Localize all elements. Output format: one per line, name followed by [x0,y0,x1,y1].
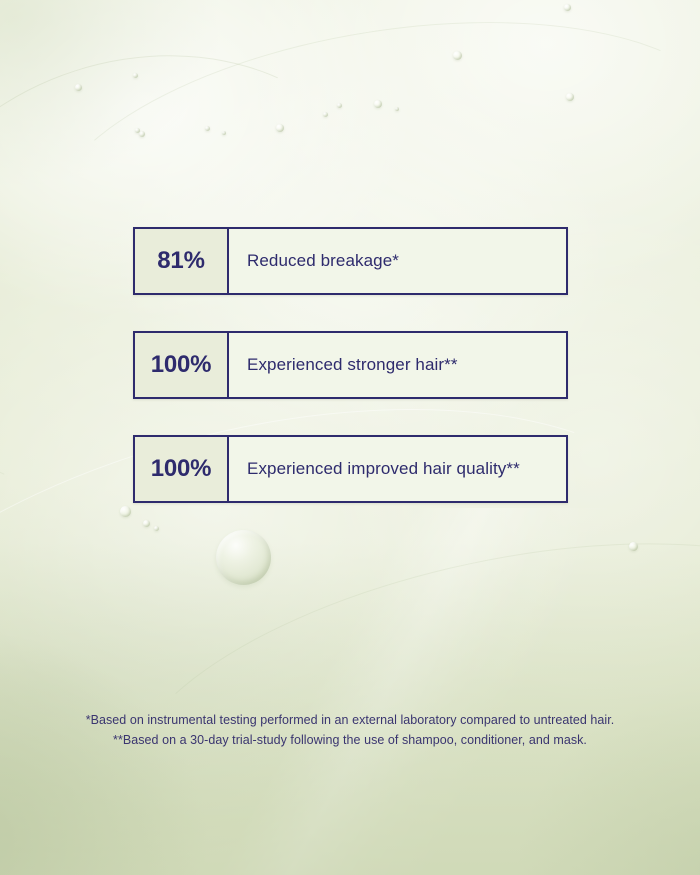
footnotes: *Based on instrumental testing performed… [0,710,700,750]
texture-bubble [374,100,382,108]
claim-row: 100% Experienced improved hair quality** [133,435,568,503]
texture-bubble [337,103,342,108]
texture-bubble [323,112,328,117]
texture-bubble-large [216,530,271,585]
footnote-line-2: **Based on a 30-day trial-study followin… [0,730,700,750]
texture-bubble [154,526,159,531]
claim-percent: 81% [135,229,229,293]
texture-bubble [629,542,638,551]
texture-bubble [222,131,226,135]
claims-list: 81% Reduced breakage* 100% Experienced s… [133,227,568,503]
claim-percent: 100% [135,437,229,501]
texture-bubble [395,107,399,111]
texture-bubble [139,131,145,137]
texture-bubble [276,124,284,132]
claim-label: Experienced stronger hair** [229,333,566,397]
results-claims-panel: 81% Reduced breakage* 100% Experienced s… [0,0,700,875]
texture-bubble [453,51,462,60]
texture-bubble [143,520,150,527]
texture-bubble [566,93,574,101]
texture-bubble [120,506,131,517]
claim-row: 100% Experienced stronger hair** [133,331,568,399]
claim-label: Reduced breakage* [229,229,566,293]
texture-bubble [133,73,138,78]
background-swirl-lower [0,508,700,875]
claim-label: Experienced improved hair quality** [229,437,566,501]
claim-row: 81% Reduced breakage* [133,227,568,295]
texture-arc-4 [97,484,700,875]
claim-percent: 100% [135,333,229,397]
texture-bubble [75,84,82,91]
texture-bubble [205,126,210,131]
footnote-line-1: *Based on instrumental testing performed… [0,710,700,730]
texture-bubble [135,128,140,133]
texture-bubble [564,4,571,11]
